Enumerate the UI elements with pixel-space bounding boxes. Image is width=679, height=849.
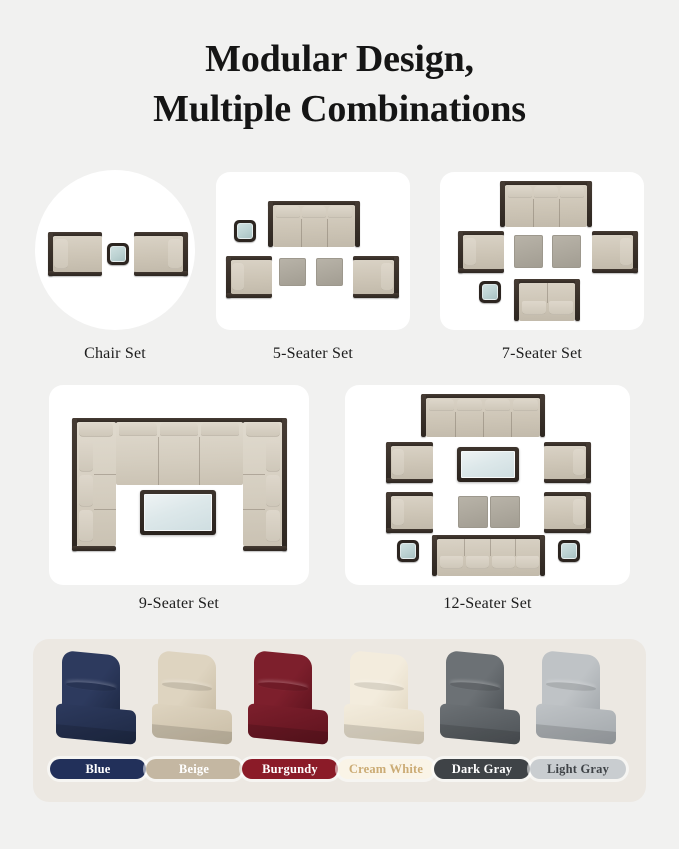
cushion-preview: [248, 651, 332, 751]
sofa-3-seat: [268, 201, 360, 247]
ottoman-2: [490, 496, 520, 528]
chair-bottom-right: [353, 256, 399, 298]
config-card-7-seater-set[interactable]: [440, 172, 644, 330]
sofa-4-seat-bottom: [432, 535, 545, 576]
color-options-panel: Blue Beige Burgundy Cream White: [33, 639, 646, 802]
color-label-burgundy[interactable]: Burgundy: [242, 759, 338, 779]
chair-right: [134, 232, 188, 276]
glass-top: [400, 543, 416, 559]
chair-right-top: [544, 442, 591, 483]
config-label-chair-set: Chair Set: [35, 345, 195, 363]
ottoman-1: [514, 235, 543, 268]
color-label-blue[interactable]: Blue: [50, 759, 146, 779]
chair-left-bottom: [386, 492, 433, 533]
ottoman-2: [316, 258, 343, 286]
config-label-7-seater-set: 7-Seater Set: [440, 345, 644, 363]
ottoman-1: [458, 496, 488, 528]
color-swatch-dark-gray[interactable]: Dark Gray: [434, 651, 530, 791]
cushion-preview: [56, 651, 140, 751]
color-label-beige[interactable]: Beige: [146, 759, 242, 779]
side-table-center: [107, 243, 129, 265]
config-card-5-seater-set[interactable]: [216, 172, 410, 330]
loveseat-2-seat: [514, 279, 580, 321]
color-swatch-cream-white[interactable]: Cream White: [338, 651, 434, 791]
side-table-bottom-left: [479, 281, 501, 303]
chair-right-bottom: [544, 492, 591, 533]
chair-right: [592, 231, 638, 273]
cushion-preview: [440, 651, 524, 751]
glass-top: [461, 451, 515, 478]
coffee-table-glass: [457, 447, 519, 482]
chair-left: [458, 231, 504, 273]
cushion-preview: [344, 651, 428, 751]
config-label-12-seater-set: 12-Seater Set: [345, 595, 630, 613]
page-title-line-1: Modular Design,: [0, 34, 679, 84]
side-table-top-left: [234, 220, 256, 242]
config-card-12-seater-set[interactable]: [345, 385, 630, 585]
config-card-9-seater-set[interactable]: [49, 385, 309, 585]
glass-top: [237, 223, 253, 239]
color-label-cream-white[interactable]: Cream White: [338, 759, 434, 779]
glass-top: [482, 284, 498, 300]
color-swatch-beige[interactable]: Beige: [146, 651, 242, 791]
cushion-preview: [152, 651, 236, 751]
infographic-page: Modular Design, Multiple Combinations Ch…: [0, 0, 679, 849]
color-swatch-blue[interactable]: Blue: [50, 651, 146, 791]
chair-bottom-left: [226, 256, 272, 298]
glass-top: [144, 494, 212, 531]
config-label-5-seater-set: 5-Seater Set: [216, 345, 410, 363]
color-swatch-light-gray[interactable]: Light Gray: [530, 651, 626, 791]
ottoman-1: [279, 258, 306, 286]
coffee-table-glass: [140, 490, 216, 535]
config-card-chair-set[interactable]: [35, 170, 195, 330]
sofa-4-seat-top: [421, 394, 545, 437]
chair-left: [48, 232, 102, 276]
sofa-3-seat: [500, 181, 592, 227]
cushion-seat: [56, 703, 136, 745]
glass-top: [110, 246, 126, 262]
color-label-dark-gray[interactable]: Dark Gray: [434, 759, 530, 779]
ottoman-2: [552, 235, 581, 268]
cushion-seat: [440, 703, 520, 745]
cushion-preview: [536, 651, 620, 751]
page-title-line-2: Multiple Combinations: [0, 84, 679, 134]
color-label-light-gray[interactable]: Light Gray: [530, 759, 626, 779]
page-title: Modular Design, Multiple Combinations: [0, 34, 679, 134]
config-label-9-seater-set: 9-Seater Set: [49, 595, 309, 613]
glass-top: [561, 543, 577, 559]
side-table-bottom-right: [558, 540, 580, 562]
cushion-seat: [344, 703, 424, 745]
cushion-seat: [152, 703, 232, 745]
chair-left-top: [386, 442, 433, 483]
color-swatch-burgundy[interactable]: Burgundy: [242, 651, 338, 791]
side-table-bottom-left: [397, 540, 419, 562]
cushion-seat: [248, 703, 328, 745]
cushion-seat: [536, 703, 616, 745]
